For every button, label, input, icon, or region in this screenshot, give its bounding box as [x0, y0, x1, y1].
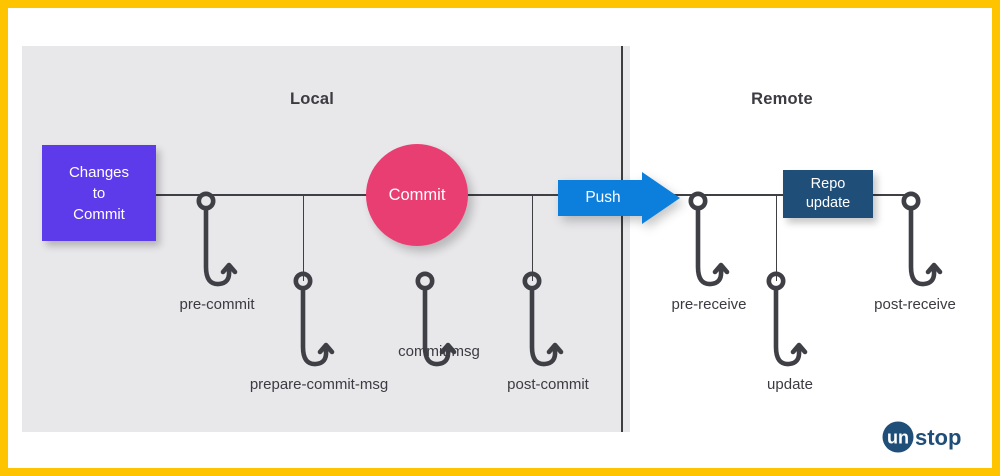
diagram-frame: Local Remote Changes to Commit Commit Pu… [0, 0, 1000, 476]
changes-to-commit-label: Changes to Commit [69, 162, 129, 225]
hook-post-commit-glyph [508, 269, 568, 379]
commit-node[interactable]: Commit [366, 144, 468, 246]
hook-post-receive[interactable] [887, 189, 947, 299]
hook-update-glyph [752, 269, 812, 379]
unstop-logo-mark-text: un [887, 428, 909, 448]
hook-commit-msg-glyph [401, 269, 461, 379]
commit-node-label: Commit [389, 186, 446, 205]
repo-line-2: update [806, 194, 850, 213]
changes-to-commit-box[interactable]: Changes to Commit [42, 145, 156, 241]
hook-prepare-commit-msg[interactable] [279, 269, 339, 379]
hook-update[interactable] [752, 269, 812, 379]
remote-section-title: Remote [692, 90, 872, 109]
hook-post-commit[interactable] [508, 269, 568, 379]
hook-pre-commit[interactable] [182, 189, 242, 299]
unstop-logo-mark: un stop [880, 420, 980, 454]
unstop-logo-wordmark: stop [915, 425, 961, 450]
changes-line-2: to [69, 183, 129, 204]
hook-label-update: update [767, 376, 813, 393]
hook-pre-commit-glyph [182, 189, 242, 299]
local-remote-divider [621, 46, 623, 432]
hook-label-pre-commit: pre-commit [179, 296, 254, 313]
hook-label-prepare-commit-msg: prepare-commit-msg [250, 376, 388, 393]
hook-label-commit-msg: commit-msg [398, 343, 480, 360]
changes-line-3: Commit [69, 204, 129, 225]
hook-commit-msg[interactable] [401, 269, 461, 379]
unstop-logo: un stop [880, 420, 980, 454]
repo-update-box[interactable]: Repo update [783, 170, 873, 218]
repo-line-1: Repo [806, 175, 850, 194]
diagram-canvas: Local Remote Changes to Commit Commit Pu… [8, 8, 992, 468]
hook-post-receive-glyph [887, 189, 947, 299]
push-arrow[interactable]: Push [558, 172, 680, 224]
hook-prepare-commit-msg-glyph [279, 269, 339, 379]
changes-line-1: Changes [69, 162, 129, 183]
push-arrow-label: Push [564, 172, 642, 224]
hook-label-post-receive: post-receive [874, 296, 956, 313]
hook-pre-receive-glyph [674, 189, 734, 299]
hook-label-pre-receive: pre-receive [671, 296, 746, 313]
hook-pre-receive[interactable] [674, 189, 734, 299]
hook-label-post-commit: post-commit [507, 376, 589, 393]
repo-update-label: Repo update [806, 175, 850, 213]
local-section-title: Local [222, 90, 402, 109]
